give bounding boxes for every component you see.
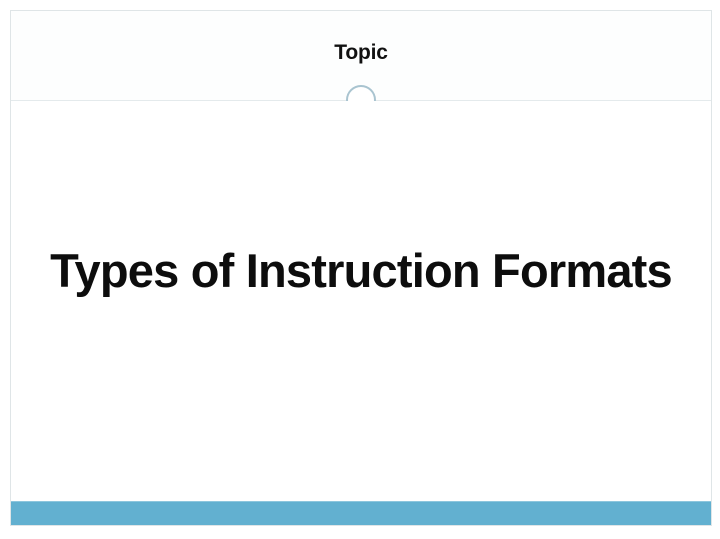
footer-accent-bar: [11, 501, 711, 525]
page-title: Topic: [11, 40, 711, 66]
slide-canvas: Topic Types of Instruction Formats: [0, 0, 720, 539]
presentation-slide: Topic Types of Instruction Formats: [10, 10, 712, 526]
slide-body: Types of Instruction Formats: [11, 101, 711, 501]
slide-main-title: Types of Instruction Formats: [27, 243, 695, 299]
footer-accent-fill: [11, 501, 711, 525]
